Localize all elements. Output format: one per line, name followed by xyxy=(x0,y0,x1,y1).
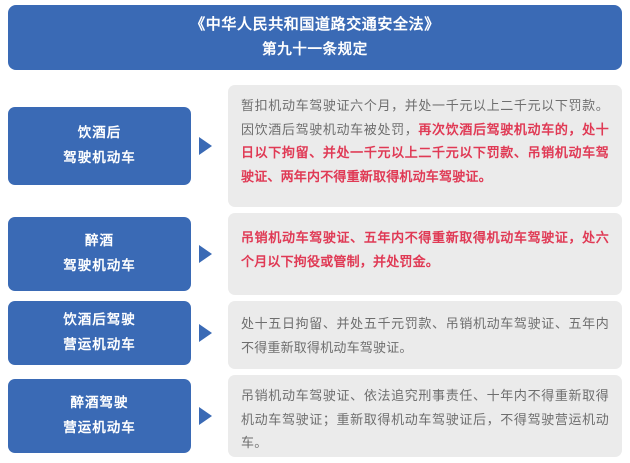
offense-label-line-1: 醉酒 xyxy=(85,231,114,252)
penalty-text-3: 处十五日拘留、并处五千元罚款、吊销机动车驾驶证、五年内不得重新取得机动车驾驶证。 xyxy=(241,313,609,360)
penalty-text-4: 吊销机动车驾驶证、依法追究刑事责任、十年内不得重新取得机动车驾驶证；重新取得机动… xyxy=(241,385,609,456)
offense-label-line-2: 驾驶机动车 xyxy=(63,256,136,277)
triangle-right-icon xyxy=(199,324,212,342)
header-banner: 《中华人民共和国道路交通安全法》 第九十一条规定 xyxy=(8,5,622,70)
offense-label-box-4[interactable]: 醉酒驾驶 营运机动车 xyxy=(8,379,191,453)
penalty-segment-red: 吊销机动车驾驶证、五年内不得重新取得机动车驾驶证，处六个月以下拘役或管制，并处罚… xyxy=(241,231,609,270)
penalty-segment-gray: 处十五日拘留、并处五千元罚款、吊销机动车驾驶证、五年内不得重新取得机动车驾驶证。 xyxy=(241,317,609,356)
penalty-row: 饮酒后 驾驶机动车 暂扣机动车驾驶证六个月，并处一千元以上二千元以下罚款。因饮酒… xyxy=(0,85,630,207)
penalty-row: 醉酒驾驶 营运机动车 吊销机动车驾驶证、依法追究刑事责任、十年内不得重新取得机动… xyxy=(0,375,630,457)
penalty-text-1: 暂扣机动车驾驶证六个月，并处一千元以上二千元以下罚款。因饮酒后驾驶机动车被处罚，… xyxy=(241,95,609,190)
penalty-text-2: 吊销机动车驾驶证、五年内不得重新取得机动车驾驶证，处六个月以下拘役或管制，并处罚… xyxy=(241,227,609,274)
page-subtitle: 第九十一条规定 xyxy=(262,40,368,62)
triangle-right-icon xyxy=(199,137,212,155)
triangle-right-icon xyxy=(199,245,212,263)
offense-label-line-2: 营运机动车 xyxy=(63,335,136,356)
penalty-body-panel-4: 吊销机动车驾驶证、依法追究刑事责任、十年内不得重新取得机动车驾驶证；重新取得机动… xyxy=(228,375,622,457)
penalty-row: 饮酒后驾驶 营运机动车 处十五日拘留、并处五千元罚款、吊销机动车驾驶证、五年内不… xyxy=(0,301,630,369)
offense-label-box-1[interactable]: 饮酒后 驾驶机动车 xyxy=(8,107,191,185)
penalty-body-panel-3: 处十五日拘留、并处五千元罚款、吊销机动车驾驶证、五年内不得重新取得机动车驾驶证。 xyxy=(228,301,622,369)
penalty-segment-gray: 吊销机动车驾驶证、依法追究刑事责任、十年内不得重新取得机动车驾驶证；重新取得机动… xyxy=(241,389,609,451)
offense-label-line-1: 醉酒驾驶 xyxy=(71,393,129,414)
offense-label-line-2: 营运机动车 xyxy=(63,418,136,439)
offense-label-line-1: 饮酒后驾驶 xyxy=(63,310,136,331)
offense-label-line-2: 驾驶机动车 xyxy=(63,148,136,169)
page-title: 《中华人民共和国道路交通安全法》 xyxy=(190,13,440,36)
penalty-row: 醉酒 驾驶机动车 吊销机动车驾驶证、五年内不得重新取得机动车驾驶证，处六个月以下… xyxy=(0,213,630,295)
offense-label-line-1: 饮酒后 xyxy=(78,123,122,144)
infographic-page: 《中华人民共和国道路交通安全法》 第九十一条规定 饮酒后 驾驶机动车 暂扣机动车… xyxy=(0,0,630,463)
offense-label-box-3[interactable]: 饮酒后驾驶 营运机动车 xyxy=(8,301,191,365)
penalty-body-panel-1: 暂扣机动车驾驶证六个月，并处一千元以上二千元以下罚款。因饮酒后驾驶机动车被处罚，… xyxy=(228,85,622,207)
offense-label-box-2[interactable]: 醉酒 驾驶机动车 xyxy=(8,217,191,291)
triangle-right-icon xyxy=(199,407,212,425)
penalty-body-panel-2: 吊销机动车驾驶证、五年内不得重新取得机动车驾驶证，处六个月以下拘役或管制，并处罚… xyxy=(228,213,622,295)
